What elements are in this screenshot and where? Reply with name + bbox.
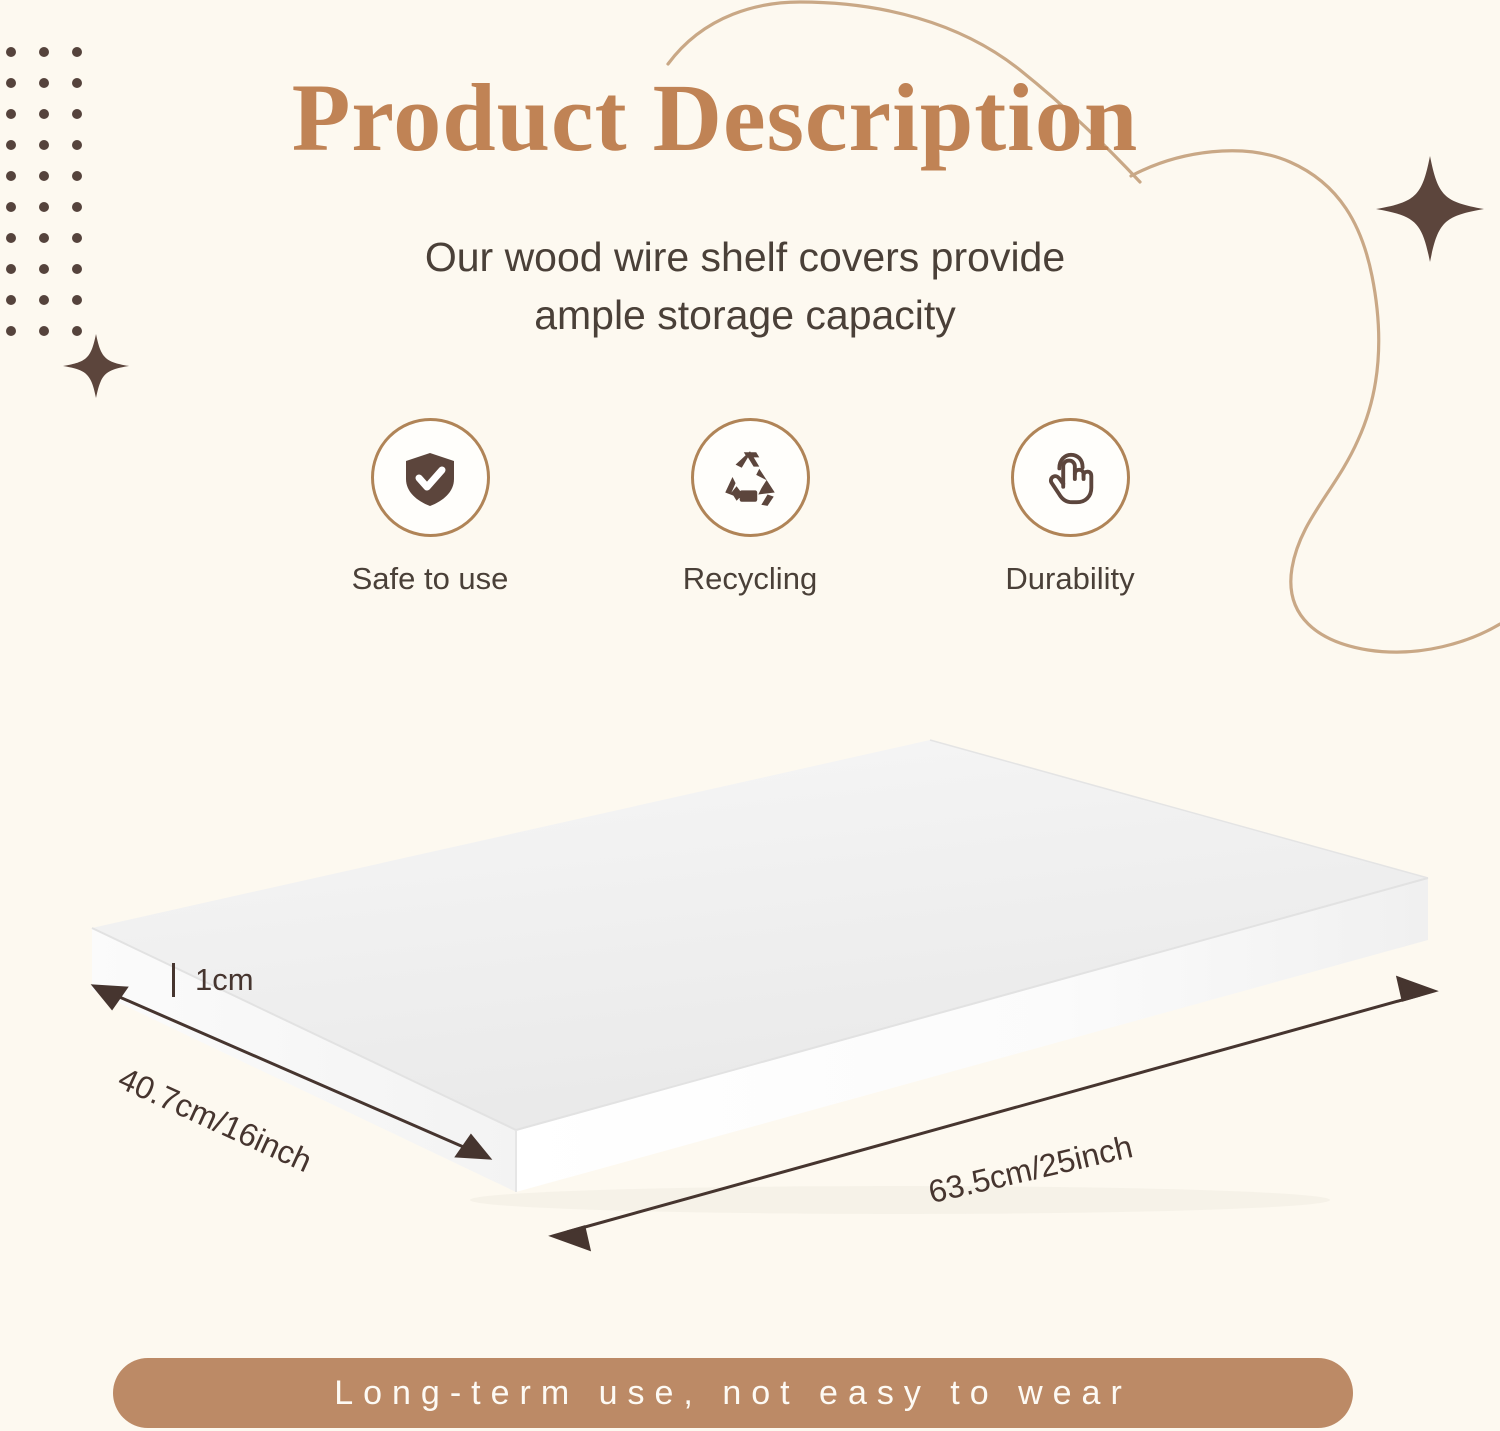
tap-hand-icon	[1039, 447, 1101, 509]
grid-dot	[39, 202, 49, 212]
feature-icon-circle	[371, 418, 490, 537]
thickness-tick-icon	[172, 963, 175, 997]
grid-dot	[39, 47, 49, 57]
grid-dot	[6, 202, 16, 212]
feature-label: Recycling	[683, 561, 817, 597]
bottom-banner: Long-term use, not easy to wear	[113, 1358, 1353, 1428]
feature-label: Durability	[1005, 561, 1134, 597]
feature-list: Safe to use Recycling	[330, 418, 1170, 597]
page-subtitle: Our wood wire shelf covers provide ample…	[0, 228, 1490, 344]
feature-recycling: Recycling	[650, 418, 850, 597]
feature-durability: Durability	[970, 418, 1170, 597]
grid-dot	[39, 171, 49, 181]
subtitle-line-2: ample storage capacity	[0, 286, 1490, 344]
product-description-page: Product Description Our wood wire shelf …	[0, 0, 1500, 1431]
decorative-squiggle-right	[1131, 151, 1500, 652]
feature-icon-circle	[1011, 418, 1130, 537]
feature-label: Safe to use	[352, 561, 509, 597]
grid-dot	[6, 47, 16, 57]
grid-dot	[72, 202, 82, 212]
grid-dot	[72, 47, 82, 57]
feature-icon-circle	[691, 418, 810, 537]
banner-text: Long-term use, not easy to wear	[334, 1374, 1132, 1413]
shelf-illustration	[0, 700, 1500, 1320]
recycling-icon	[717, 445, 783, 511]
shield-check-icon	[398, 446, 462, 510]
page-title: Product Description	[0, 68, 1430, 169]
grid-dot	[6, 171, 16, 181]
subtitle-line-1: Our wood wire shelf covers provide	[0, 228, 1490, 286]
feature-safe-to-use: Safe to use	[330, 418, 530, 597]
dimension-label-thickness: 1cm	[172, 962, 254, 998]
thickness-value: 1cm	[195, 962, 254, 998]
grid-dot	[72, 171, 82, 181]
